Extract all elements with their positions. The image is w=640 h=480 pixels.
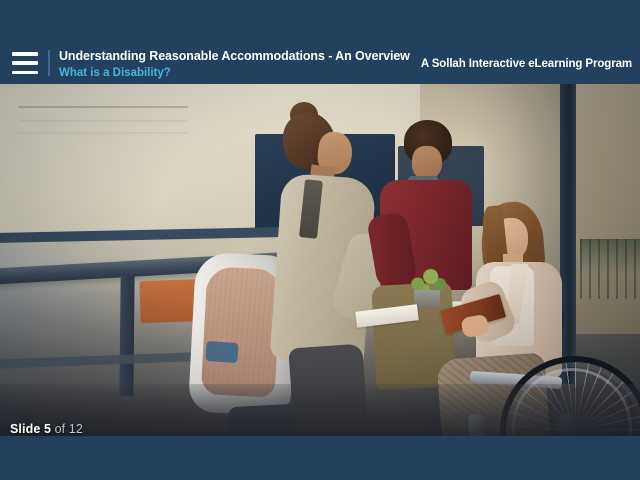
player-header: Understanding Reasonable Accommodations … xyxy=(0,0,640,84)
desk-rail xyxy=(0,352,210,370)
slide-photograph xyxy=(0,84,640,436)
desk-plant-pot xyxy=(414,290,440,308)
window-mullion xyxy=(560,84,576,384)
desk-leg xyxy=(119,276,134,396)
slide-counter-current: Slide 5 xyxy=(10,422,51,436)
background-chairs xyxy=(580,239,640,299)
hamburger-bar-top xyxy=(12,52,38,56)
program-credit: A Sollah Interactive eLearning Program xyxy=(421,58,632,70)
hamburger-bar-middle xyxy=(12,61,38,65)
course-title: Understanding Reasonable Accommodations … xyxy=(59,49,419,64)
office-chair-mesh xyxy=(201,266,282,398)
header-title-block: Understanding Reasonable Accommodations … xyxy=(59,49,419,81)
elearning-player: Understanding Reasonable Accommodations … xyxy=(0,0,640,480)
office-floor xyxy=(0,384,640,436)
hamburger-bar-bottom xyxy=(12,71,38,75)
slide-counter-total: of 12 xyxy=(51,422,83,436)
lesson-subtitle: What is a Disability? xyxy=(59,66,419,81)
player-footer xyxy=(0,436,640,480)
slide-counter: Slide 5 of 12 xyxy=(10,422,83,436)
office-chair-lumbar-support xyxy=(205,341,238,363)
slide-stage xyxy=(0,84,640,436)
header-divider xyxy=(48,50,50,76)
hamburger-menu-icon[interactable] xyxy=(12,52,38,74)
person-seated-face xyxy=(412,146,442,180)
